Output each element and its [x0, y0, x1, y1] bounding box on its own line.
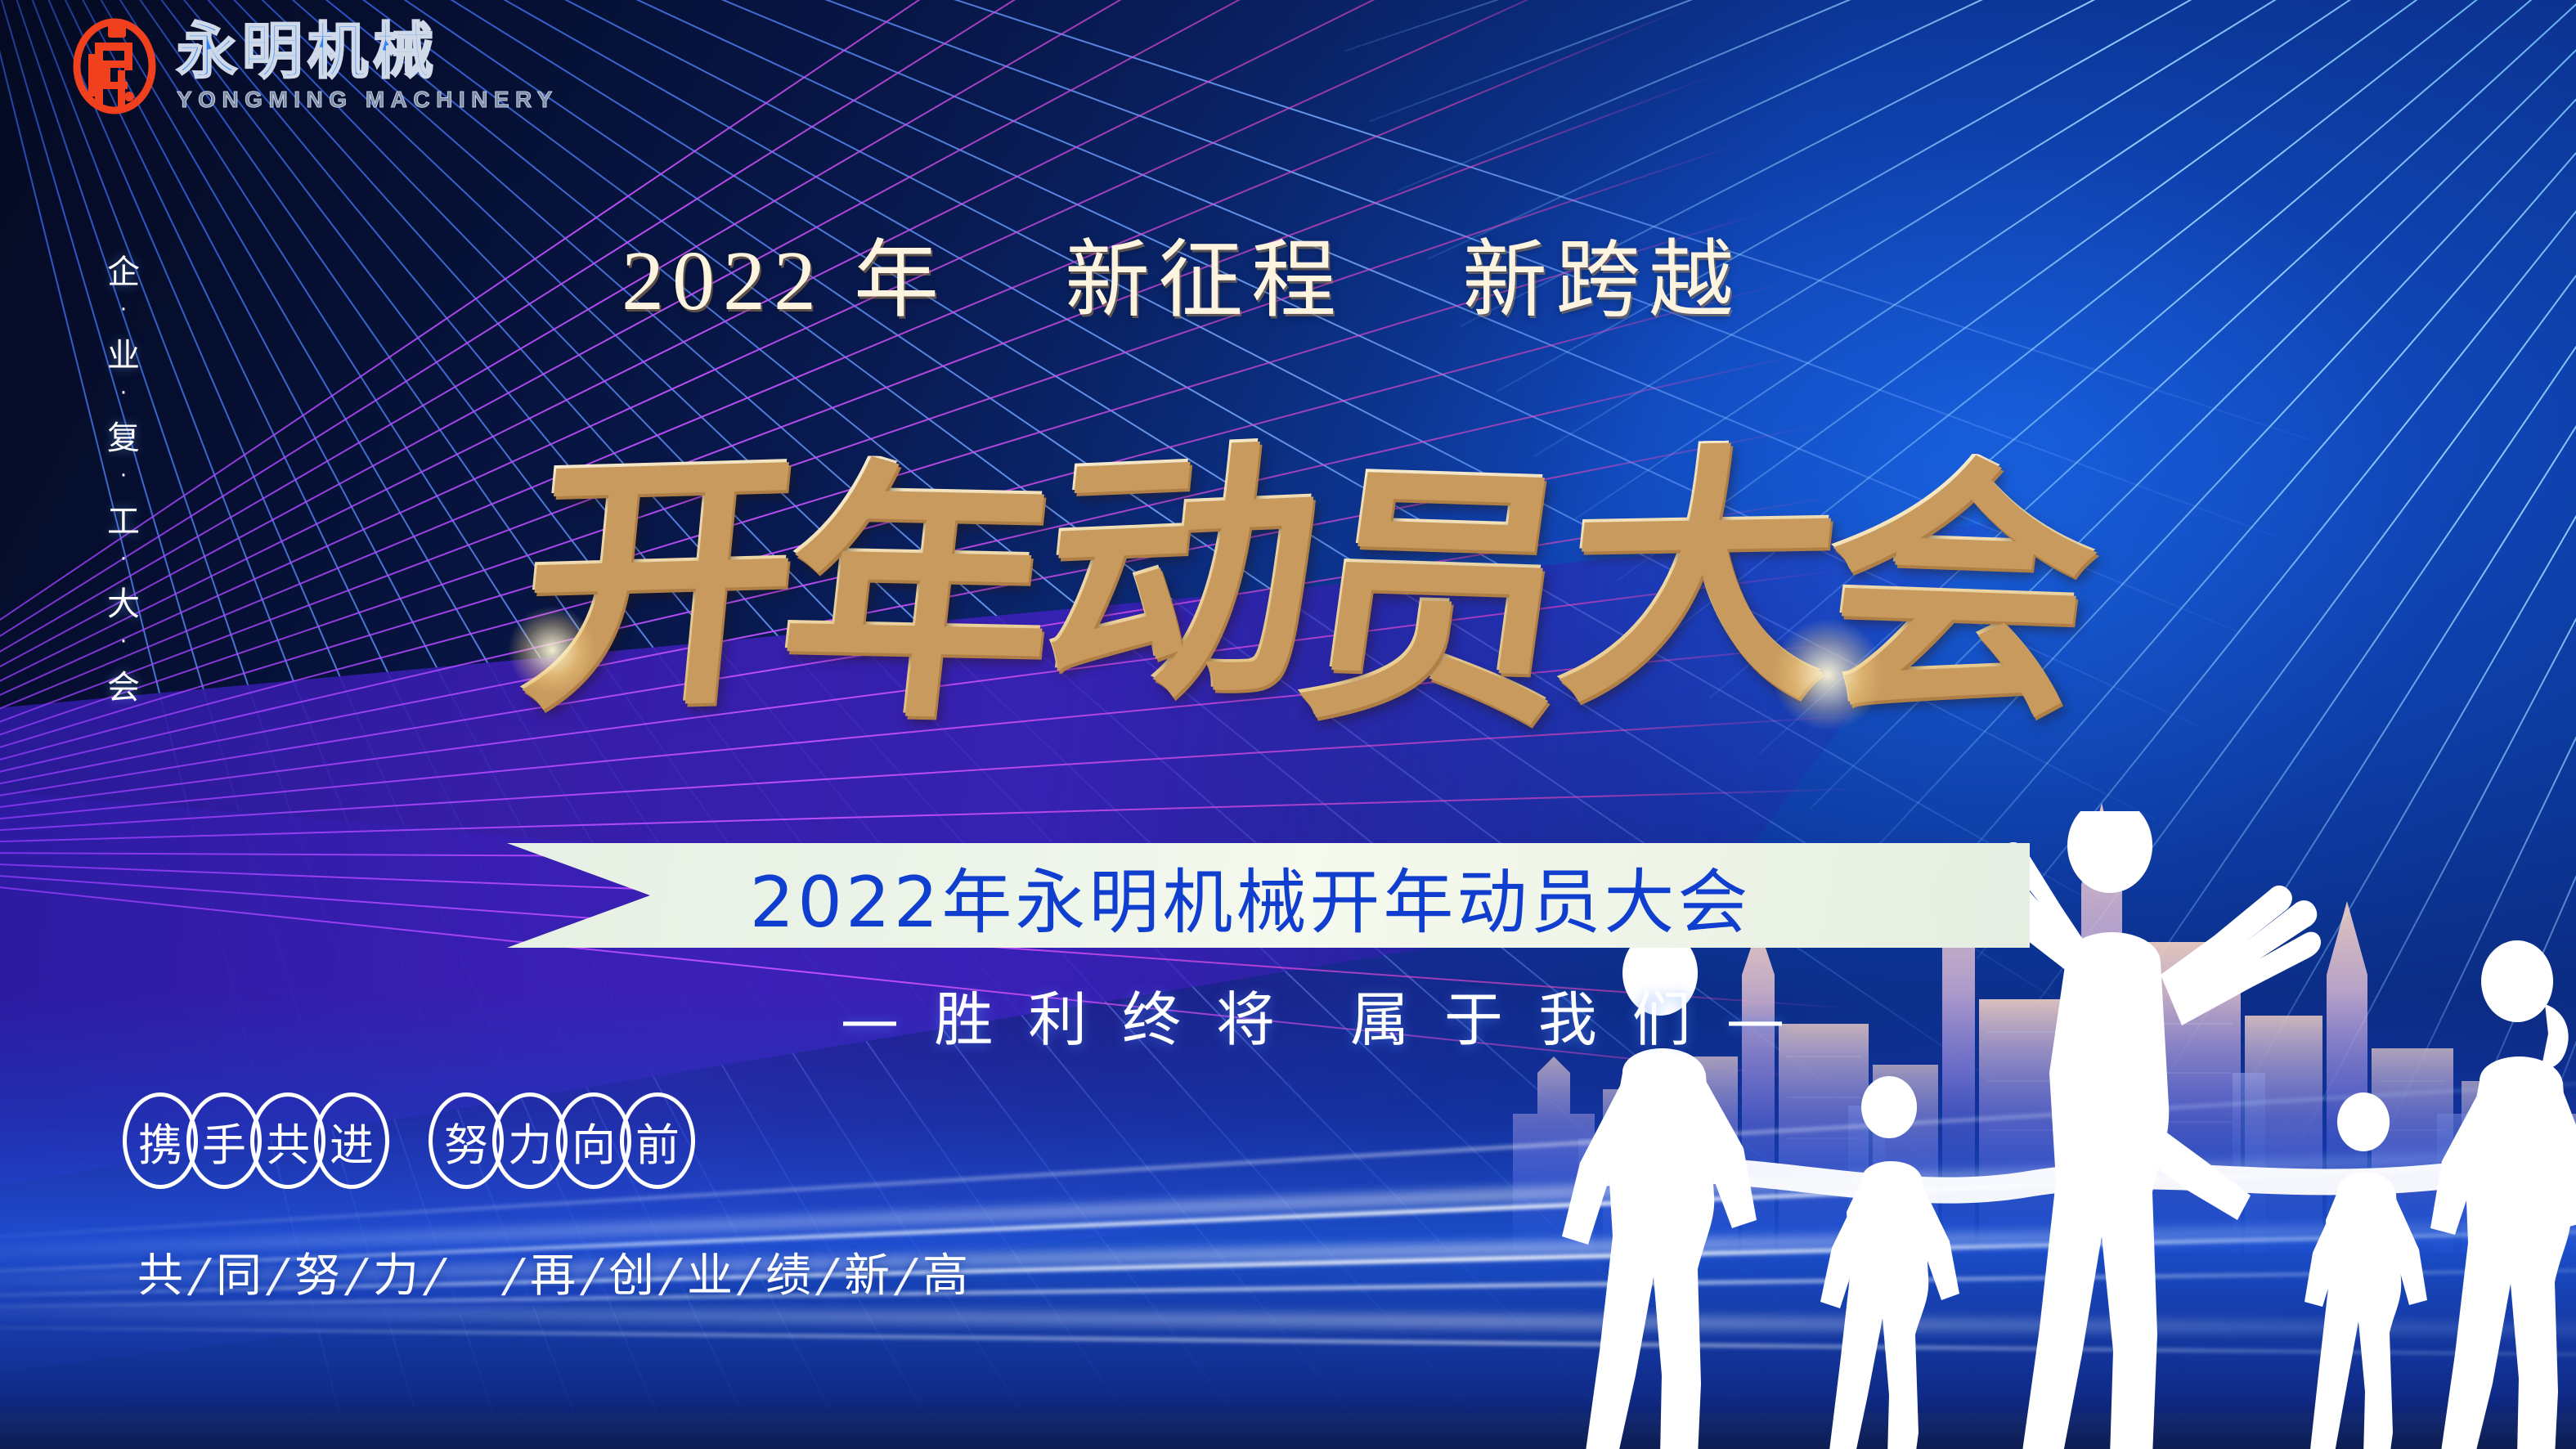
- side-text-char: 工: [107, 495, 140, 542]
- slogan-char: 再: [527, 1239, 578, 1305]
- slogan-char: 创: [606, 1239, 657, 1305]
- badge-char-ellipse: 前: [620, 1092, 695, 1189]
- ribbon-text: 2022年永明机械开年动员大会: [750, 845, 1752, 947]
- main-title-calligraphy: 开年动员大会: [262, 352, 2355, 810]
- side-text-dot: ·: [120, 636, 127, 649]
- side-text-dot: ·: [120, 554, 127, 567]
- bottom-slogan: 共/同/努/力//再/创/业/绩/新/高: [135, 1239, 971, 1305]
- side-text-char: 业: [107, 329, 140, 376]
- title-light-flare-right: [1750, 597, 1905, 752]
- brand-name-cn: 永明机械: [177, 21, 559, 82]
- slogan-char: 绩: [763, 1239, 814, 1305]
- brand-logo[interactable]: 永明机械 YONGMING MACHINERY: [70, 18, 559, 114]
- slogan-char: 同: [213, 1239, 264, 1305]
- badge-1[interactable]: 携手共进: [123, 1092, 389, 1189]
- brand-name-en: YONGMING MACHINERY: [177, 88, 559, 111]
- side-text-char: 会: [107, 661, 140, 708]
- slogan-char: 业: [684, 1239, 735, 1305]
- title-light-flare-left: [491, 589, 613, 711]
- main-title-char: 员: [1284, 456, 1590, 734]
- headline-part-3: 新跨越: [1462, 234, 1742, 328]
- slogan-char: 新: [841, 1239, 892, 1305]
- badge-char-ellipse: 进: [314, 1092, 389, 1189]
- subtitle: — 胜 利 终 将 属 于 我 们 —: [834, 971, 1799, 1057]
- slogan-char: 共: [135, 1239, 186, 1305]
- side-text-char: 大: [107, 577, 140, 625]
- event-ribbon-banner: 2022年永明机械开年动员大会: [507, 843, 2030, 948]
- side-text-char: 复: [107, 411, 140, 459]
- side-text-dot: ·: [120, 470, 127, 483]
- slogan-char: 力: [370, 1239, 421, 1305]
- side-text-char: 企: [107, 245, 140, 293]
- main-title-char: 动: [1030, 432, 1328, 713]
- yongming-seal-icon: [70, 18, 159, 114]
- badge-2[interactable]: 努力向前: [429, 1092, 695, 1189]
- main-title-char: 年: [768, 455, 1066, 730]
- side-text-dot: ·: [120, 304, 127, 317]
- headline-part-2: 新征程: [1065, 234, 1344, 328]
- vertical-side-text: 企·业·复·工·大·会: [88, 245, 159, 708]
- headline-part-1: 2022 年: [622, 234, 947, 328]
- poster-canvas: 永明机械 YONGMING MACHINERY 企·业·复·工·大·会 2022…: [0, 0, 2576, 1449]
- slogan-char: 努: [292, 1239, 343, 1305]
- badge-row: 携手共进努力向前: [123, 1092, 695, 1189]
- side-text-dot: ·: [120, 388, 127, 401]
- headline: 2022 年 新征程 新跨越: [622, 239, 1897, 324]
- slogan-char: 高: [920, 1239, 971, 1305]
